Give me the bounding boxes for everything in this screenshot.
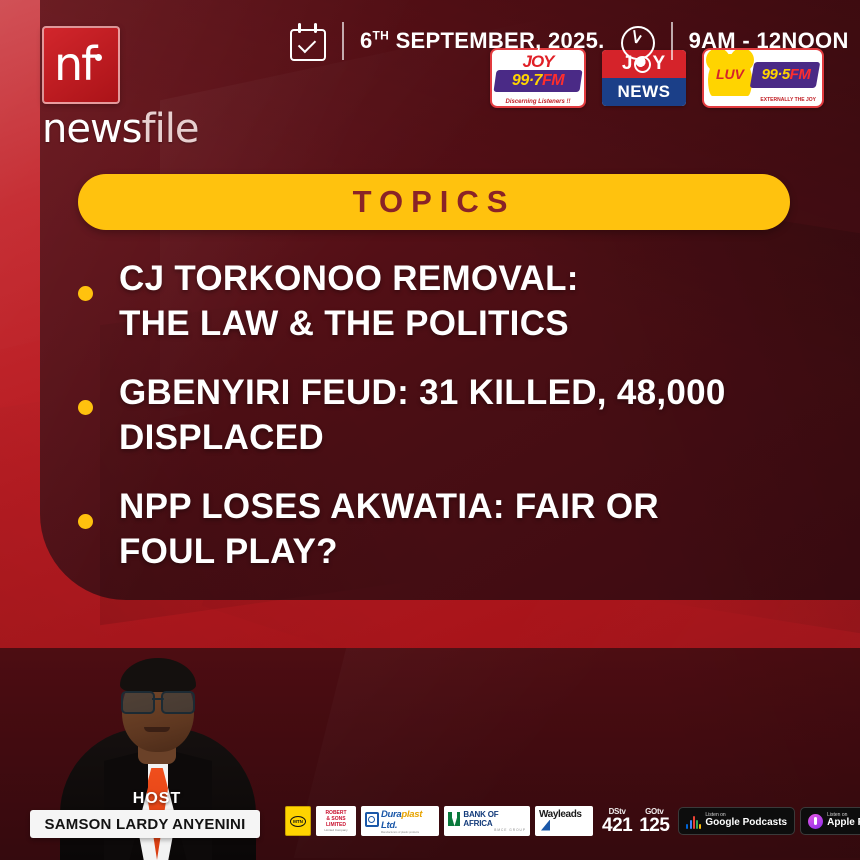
list-item: GBENYIRI FEUD: 31 KILLED, 48,000 DISPLAC… <box>78 370 830 460</box>
list-item: CJ TORKONOO REMOVAL: THE LAW & THE POLIT… <box>78 256 830 346</box>
schedule-time: 9AM - 12NOON <box>689 28 849 54</box>
boa-mark-icon <box>448 812 460 826</box>
topic-line: DISPLACED <box>119 415 726 460</box>
date-day: 6 <box>360 28 373 53</box>
host-name-text: SAMSON LARDY ANYENINI <box>45 816 246 833</box>
google-podcasts-icon <box>686 814 701 829</box>
divider <box>671 22 673 60</box>
duraplast-text: Duraplast Ltd. <box>381 809 435 831</box>
google-podcasts-label: Google Podcasts <box>705 818 787 829</box>
host-hair <box>120 658 196 692</box>
gotv-number: 125 <box>639 816 669 835</box>
boa-sub: BMCE GROUP <box>448 828 526 832</box>
apple-podcasts-text: Listen on Apple Podcasts <box>827 813 860 829</box>
duraplast-sub: Manufacturers of plastic products <box>365 831 435 834</box>
dstv-brand: DStv <box>602 808 632 816</box>
date-ordinal: TH <box>373 29 390 43</box>
wordmark-news: news <box>42 106 142 152</box>
luv-name: LUV <box>708 66 752 82</box>
gotv-channel: GOtv 125 <box>639 808 669 835</box>
duraplast-row: Duraplast Ltd. <box>365 809 435 831</box>
host-mouth <box>144 727 170 732</box>
duraplast-mark-icon <box>365 812 379 827</box>
sponsor-mtn-logo: MTN <box>285 806 311 836</box>
bullet-icon <box>78 514 93 529</box>
luv-frequency: 99·5FM <box>754 62 818 88</box>
apple-podcasts-badge[interactable]: Listen on Apple Podcasts <box>800 807 860 835</box>
sponsor-wayleads-logo: Wayleads <box>535 806 593 836</box>
apple-podcasts-icon <box>808 814 823 829</box>
topics-list: CJ TORKONOO REMOVAL: THE LAW & THE POLIT… <box>78 256 830 598</box>
topics-banner-label: TOPICS <box>353 184 516 220</box>
glasses-icon <box>120 691 196 710</box>
wayleads-mark-icon <box>541 820 550 831</box>
sponsor-logos: MTN ROBERT & SONS LIMITED Limited Compan… <box>285 806 860 836</box>
divider <box>342 22 344 60</box>
wordmark-file: file <box>142 106 199 152</box>
schedule-row: 6TH SEPTEMBER, 2025. 9AM - 12NOON <box>290 22 849 60</box>
nf-mark-icon: nf <box>42 26 120 104</box>
topic-line: NPP LOSES AKWATIA: FAIR OR <box>119 484 659 529</box>
sponsor-duraplast-logo: Duraplast Ltd. Manufacturers of plastic … <box>361 806 439 836</box>
dstv-channel: DStv 421 <box>602 808 632 835</box>
bullet-icon <box>78 400 93 415</box>
topic-line: THE LAW & THE POLITICS <box>119 301 579 346</box>
gotv-brand: GOtv <box>639 808 669 816</box>
newsfile-topics-poster: nf newsfile JOY 99·7FM Discerning Listen… <box>0 0 860 860</box>
topic-line: FOUL PLAY? <box>119 529 659 574</box>
robert-sub: Limited Company <box>324 828 347 832</box>
luv-band-label: FM <box>790 66 811 83</box>
apple-listen-on: Listen on <box>827 813 860 818</box>
joy-fm-tagline: Discerning Listeners !! <box>492 99 584 105</box>
heart-icon: LUV <box>708 54 752 96</box>
host-name-plate: SAMSON LARDY ANYENINI <box>30 810 260 838</box>
luv-tagline: EXTERNALLY THE JOY <box>760 97 816 103</box>
wayleads-text: Wayleads <box>539 809 589 834</box>
sponsor-robert-sons-logo: ROBERT & SONS LIMITED Limited Company <box>316 806 356 836</box>
host-portrait: HOST SAMSON LARDY ANYENINI <box>52 600 262 860</box>
sponsor-bank-of-africa-logo: BANK OF AFRICA BMCE GROUP <box>444 806 530 836</box>
boa-row: BANK OF AFRICA <box>448 810 526 828</box>
calendar-check-icon <box>290 23 326 59</box>
topics-banner: TOPICS <box>78 174 790 230</box>
google-podcasts-badge[interactable]: Listen on Google Podcasts <box>678 807 795 835</box>
newsfile-wordmark: newsfile <box>42 106 192 152</box>
google-podcasts-text: Listen on Google Podcasts <box>705 813 787 829</box>
topic-line: GBENYIRI FEUD: 31 KILLED, 48,000 <box>119 370 726 415</box>
joy-fm-frequency: 99·7FM <box>492 70 584 92</box>
host-role-label: HOST <box>52 790 262 808</box>
joy-news-bottom: NEWS <box>602 78 686 106</box>
boa-text: BANK OF AFRICA <box>463 810 526 828</box>
glasses-lens-right <box>161 691 195 714</box>
list-item: NPP LOSES AKWATIA: FAIR OR FOUL PLAY? <box>78 484 830 574</box>
nf-mark-dot-icon <box>95 54 102 61</box>
clock-face <box>621 26 655 60</box>
joy-fm-band-label: FM <box>542 72 564 89</box>
newsfile-logo: nf newsfile <box>42 26 192 152</box>
bullet-icon <box>78 286 93 301</box>
topic-text: CJ TORKONOO REMOVAL: THE LAW & THE POLIT… <box>119 256 579 346</box>
dstv-number: 421 <box>602 816 632 835</box>
date-rest: SEPTEMBER, 2025. <box>389 28 604 53</box>
topic-text: GBENYIRI FEUD: 31 KILLED, 48,000 DISPLAC… <box>119 370 726 460</box>
schedule-date: 6TH SEPTEMBER, 2025. <box>360 28 605 54</box>
topic-text: NPP LOSES AKWATIA: FAIR OR FOUL PLAY? <box>119 484 659 574</box>
clock-icon <box>619 23 655 59</box>
topic-line: CJ TORKONOO REMOVAL: <box>119 256 579 301</box>
tv-channel-numbers: DStv 421 GOtv 125 <box>602 808 669 835</box>
apple-podcasts-label: Apple Podcasts <box>827 818 860 829</box>
glasses-lens-left <box>121 691 155 714</box>
nf-mark-text: nf <box>54 34 95 94</box>
google-listen-on: Listen on <box>705 813 787 818</box>
mtn-text: MTN <box>290 816 306 827</box>
